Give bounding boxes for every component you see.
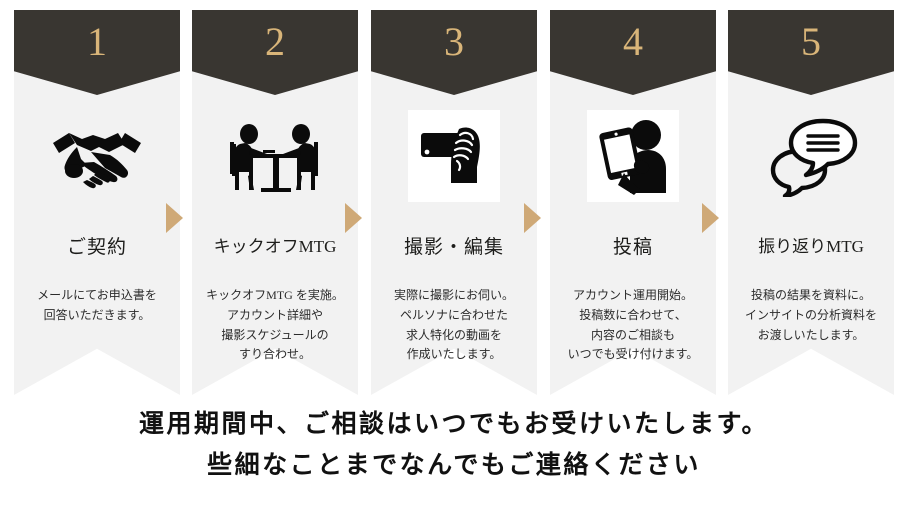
steps-row: 1: [0, 0, 908, 400]
triangle-right-icon: [345, 203, 362, 233]
desc-line: 投稿の結果を資料に。: [732, 286, 890, 306]
step-number: 1: [87, 22, 107, 62]
desc-line: お渡しいたします。: [732, 326, 890, 346]
footer-line-1: 運用期間中、ご相談はいつでもお受けいたします。: [0, 404, 908, 445]
step-number: 2: [265, 22, 285, 62]
handshake-icon: [43, 110, 151, 202]
desc-line: 回答いただきます。: [18, 306, 176, 326]
step-description-3: 実際に撮影にお伺い。 ペルソナに合わせた 求人特化の動画を 作成いたします。: [375, 286, 533, 365]
desc-line: ペルソナに合わせた: [375, 306, 533, 326]
hand-holding-smartphone-icon: [408, 110, 500, 202]
desc-line: アカウント詳細や: [196, 306, 354, 326]
desc-line: キックオフMTG を実施。: [196, 286, 354, 306]
step-card-2: 2: [192, 10, 358, 395]
footer-message: 運用期間中、ご相談はいつでもお受けいたします。 些細なことまでなんでもご連絡くだ…: [0, 404, 908, 485]
desc-line: メールにてお申込書を: [18, 286, 176, 306]
step-title: 振り返りMTG: [728, 232, 894, 257]
step-number: 5: [801, 22, 821, 62]
step-icon-area-4: [550, 108, 716, 203]
step-title: キックオフMTG: [192, 232, 358, 257]
footer-line-2: 些細なことまでなんでもご連絡ください: [0, 445, 908, 486]
step-icon-area-3: [371, 108, 537, 203]
desc-line: 投稿数に合わせて、: [554, 306, 712, 326]
desc-line: 撮影スケジュールの: [196, 326, 354, 346]
desc-line: 内容のご相談も: [554, 326, 712, 346]
step-icon-area-2: [192, 108, 358, 203]
step-title: 投稿: [550, 232, 716, 259]
desc-line: 作成いたします。: [375, 345, 533, 365]
desc-line: アカウント運用開始。: [554, 286, 712, 306]
desc-line: すり合わせ。: [196, 345, 354, 365]
step-description-2: キックオフMTG を実施。 アカウント詳細や 撮影スケジュールの すり合わせ。: [196, 286, 354, 365]
step-card-4: 4: [550, 10, 716, 395]
step-number: 3: [444, 22, 464, 62]
process-flow-infographic: 1: [0, 0, 908, 518]
person-with-tablet-icon: [587, 110, 679, 202]
step-title: 撮影・編集: [371, 232, 537, 259]
step-card-1: 1: [14, 10, 180, 395]
triangle-right-icon: [702, 203, 719, 233]
step-card-5: 5: [728, 10, 894, 395]
step-title: ご契約: [14, 232, 180, 259]
step-icon-area-5: [728, 108, 894, 203]
desc-line: 求人特化の動画を: [375, 326, 533, 346]
step-description-4: アカウント運用開始。 投稿数に合わせて、 内容のご相談も いつでも受け付けます。: [554, 286, 712, 365]
meeting-table-icon: [221, 110, 329, 202]
step-description-1: メールにてお申込書を 回答いただきます。: [18, 286, 176, 326]
step-number: 4: [623, 22, 643, 62]
step-card-3: 3: [371, 10, 537, 395]
speech-bubbles-icon: [757, 110, 865, 202]
desc-line: 実際に撮影にお伺い。: [375, 286, 533, 306]
desc-line: いつでも受け付けます。: [554, 345, 712, 365]
step-icon-area-1: [14, 108, 180, 203]
desc-line: インサイトの分析資料を: [732, 306, 890, 326]
triangle-right-icon: [524, 203, 541, 233]
step-description-5: 投稿の結果を資料に。 インサイトの分析資料を お渡しいたします。: [732, 286, 890, 345]
triangle-right-icon: [166, 203, 183, 233]
